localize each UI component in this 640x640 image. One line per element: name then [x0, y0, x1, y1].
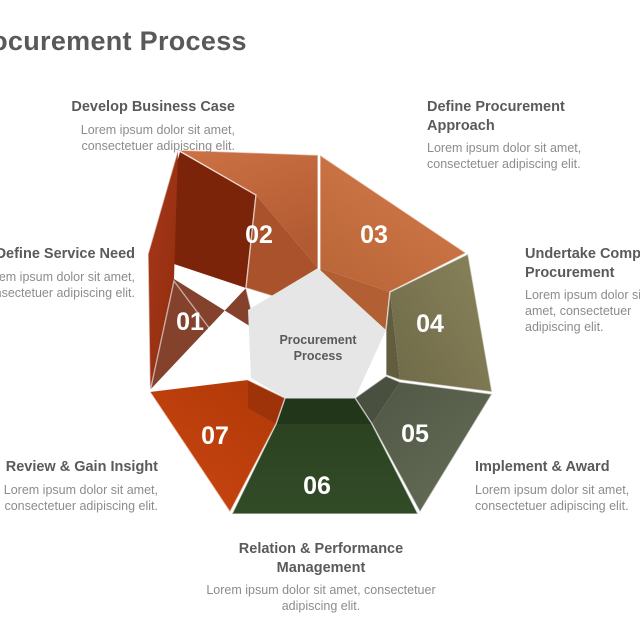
callout-title: Relation & Performance Management	[196, 540, 446, 577]
slide-canvas: Procurement Process	[0, 0, 640, 640]
callout-review-and-gain-insight[interactable]: Review & Gain Insight Lorem ipsum dolor …	[0, 458, 158, 514]
callout-title: Define Procurement Approach	[427, 98, 602, 135]
segment-06-number: 06	[303, 472, 331, 500]
segment-07-number: 07	[201, 422, 229, 450]
callout-body: Lorem ipsum dolor sit amet, consectetuer…	[0, 269, 135, 301]
center-hub-line1: Procurement	[279, 333, 357, 347]
callout-body: Lorem ipsum dolor sit amet, consectetuer…	[0, 482, 158, 514]
callout-body: Lorem ipsum dolor sit amet, consectetuer…	[427, 140, 602, 172]
callout-define-service-need[interactable]: Define Service Need Lorem ipsum dolor si…	[0, 245, 135, 301]
callout-develop-business-case[interactable]: Develop Business Case Lorem ipsum dolor …	[0, 98, 235, 154]
callout-title: Implement & Award	[475, 458, 640, 477]
segment-03-number: 03	[360, 221, 388, 249]
callout-undertake-competitive-procurement[interactable]: Undertake Competitive Procurement Lorem …	[525, 245, 640, 335]
callout-body: Lorem ipsum dolor sit amet, consectetuer…	[475, 482, 640, 514]
callout-title: Undertake Competitive Procurement	[525, 245, 640, 282]
callout-relation-performance-management[interactable]: Relation & Performance Management Lorem …	[196, 540, 446, 614]
segment-05-number: 05	[401, 420, 429, 448]
callout-title: Define Service Need	[0, 245, 135, 264]
segment-02-number: 02	[245, 221, 273, 249]
callout-body: Lorem ipsum dolor sit amet, consectetuer…	[525, 287, 640, 335]
center-hub-line2: Process	[294, 349, 343, 363]
segment-01-number: 01	[176, 308, 204, 336]
callout-title: Review & Gain Insight	[0, 458, 158, 477]
segment-04-number: 04	[416, 310, 444, 338]
callout-title: Develop Business Case	[0, 98, 235, 117]
callout-define-procurement-approach[interactable]: Define Procurement Approach Lorem ipsum …	[427, 98, 602, 172]
callout-implement-and-award[interactable]: Implement & Award Lorem ipsum dolor sit …	[475, 458, 640, 514]
callout-body: Lorem ipsum dolor sit amet, consectetuer…	[196, 582, 446, 614]
callout-body: Lorem ipsum dolor sit amet, consectetuer…	[0, 122, 235, 154]
